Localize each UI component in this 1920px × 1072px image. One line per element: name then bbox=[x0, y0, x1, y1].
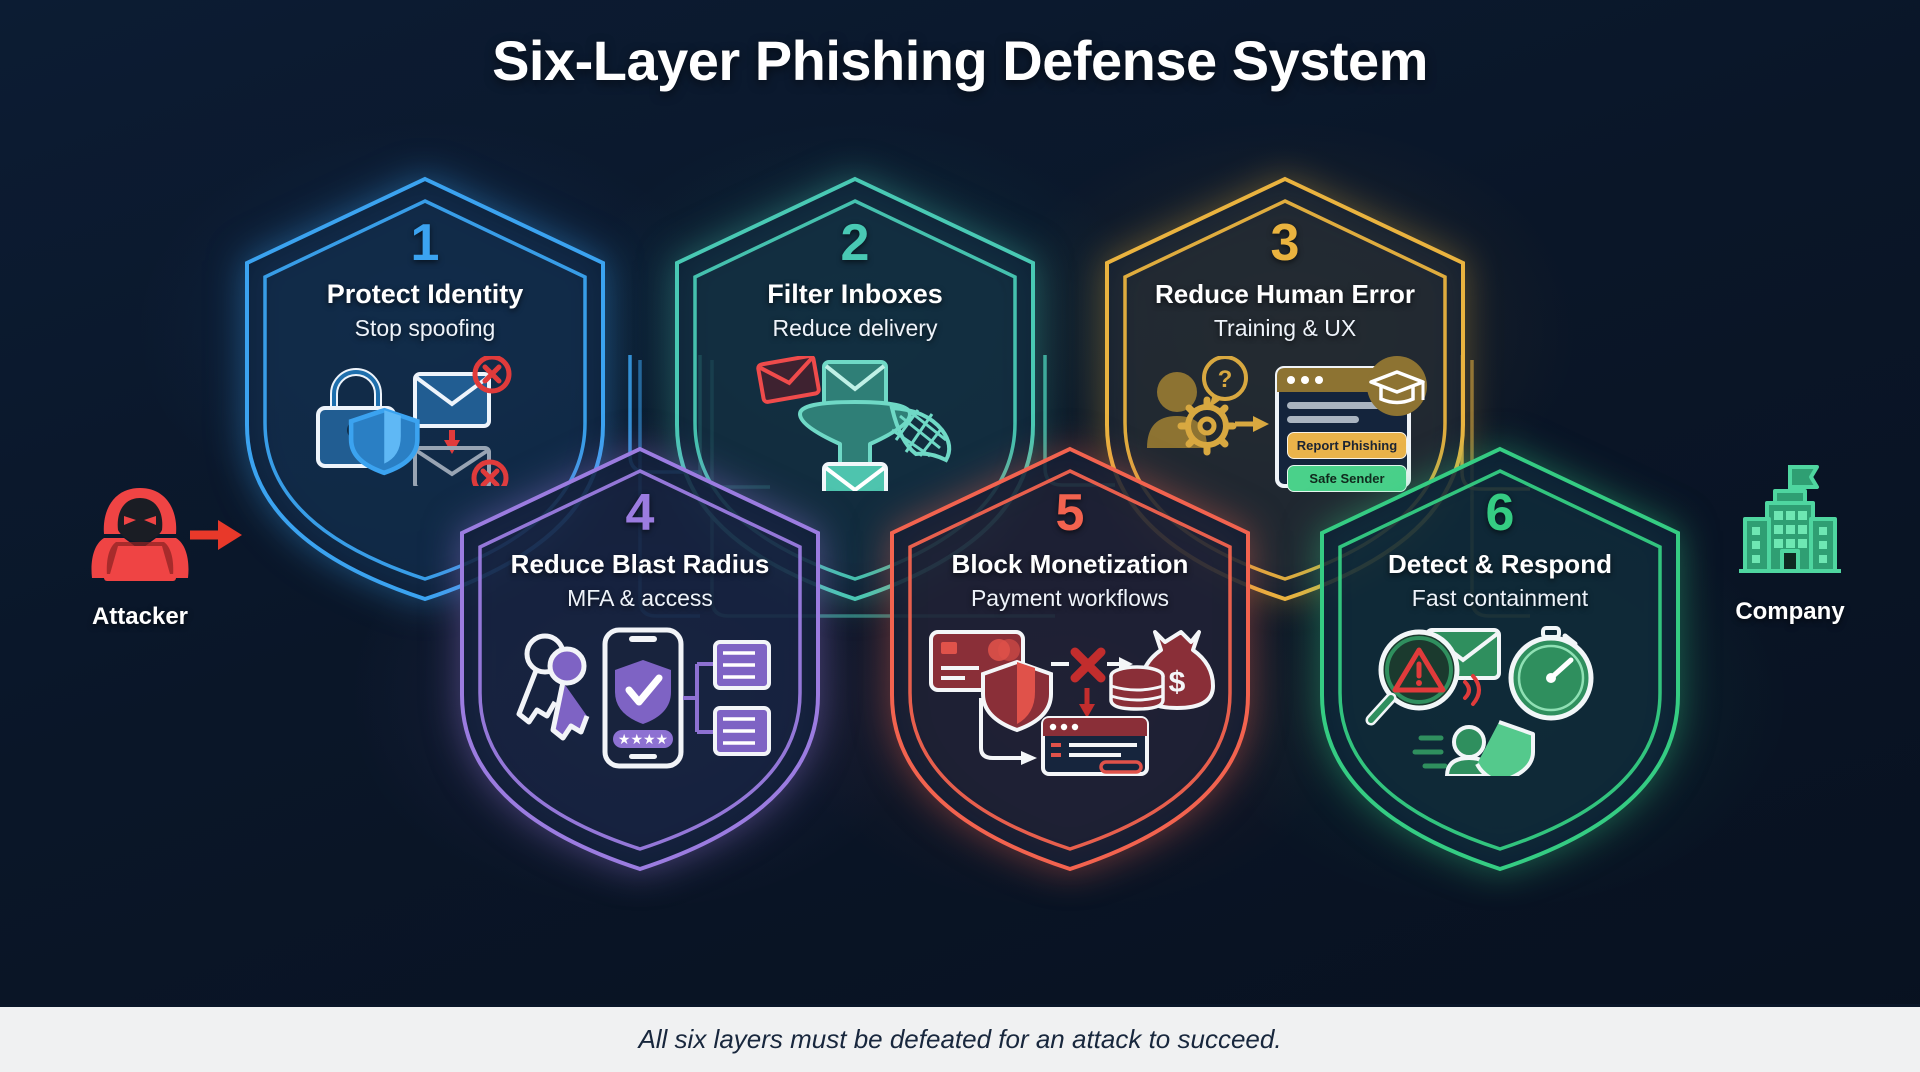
layer-number-4: 4 bbox=[626, 487, 655, 539]
alert-waves-icon bbox=[1465, 676, 1479, 704]
envelope-blocked-icon bbox=[415, 357, 509, 426]
shield-icon bbox=[983, 662, 1051, 730]
layer-number-5: 5 bbox=[1056, 487, 1085, 539]
envelope-clean-icon bbox=[824, 464, 886, 491]
layer-title-5: Block Monetization bbox=[952, 549, 1189, 580]
envelope-red-icon bbox=[758, 356, 820, 403]
layer-title-1: Protect Identity bbox=[327, 279, 524, 310]
shield-icon bbox=[351, 410, 417, 473]
layer-card-5[interactable]: 5 Block Monetization Payment workflows bbox=[880, 445, 1260, 875]
svg-text:★★★★: ★★★★ bbox=[618, 731, 668, 747]
layer-subtitle-6: Fast containment bbox=[1412, 585, 1588, 612]
footer-note: All six layers must be defeated for an a… bbox=[638, 1024, 1281, 1055]
layer-number-2: 2 bbox=[841, 217, 870, 269]
server-rack-icon bbox=[715, 642, 769, 754]
coins-icon bbox=[1111, 667, 1163, 709]
layer-card-6[interactable]: 6 Detect & Respond Fast containment bbox=[1310, 445, 1690, 875]
graduation-cap-icon bbox=[1367, 356, 1427, 416]
layer-subtitle-3: Training & UX bbox=[1214, 315, 1356, 342]
person-shield-icon bbox=[1415, 722, 1533, 776]
envelope-teal-icon bbox=[824, 362, 886, 406]
layer-4-icon-group: ★★★★ bbox=[505, 626, 775, 771]
company-label: Company bbox=[1680, 598, 1900, 626]
layer-subtitle-4: MFA & access bbox=[567, 585, 713, 612]
endpoint-company: Company bbox=[1680, 455, 1900, 626]
password-dots-icon: ★★★★ bbox=[613, 730, 673, 748]
stopwatch-icon bbox=[1511, 628, 1591, 718]
footer-bar: All six layers must be defeated for an a… bbox=[0, 1004, 1920, 1072]
layer-number-6: 6 bbox=[1486, 487, 1515, 539]
layer-number-1: 1 bbox=[411, 217, 440, 269]
layer-number-3: 3 bbox=[1271, 217, 1300, 269]
arrow-right-icon bbox=[1235, 416, 1269, 432]
svg-text:?: ? bbox=[1218, 366, 1233, 393]
layer-title-3: Reduce Human Error bbox=[1155, 279, 1415, 310]
layer-6-icon-group bbox=[1365, 626, 1635, 776]
hacker-icon bbox=[80, 480, 200, 590]
svg-text:$: $ bbox=[1169, 666, 1186, 699]
endpoint-attacker: Attacker bbox=[30, 480, 250, 631]
layer-title-4: Reduce Blast Radius bbox=[511, 549, 770, 580]
layer-title-6: Detect & Respond bbox=[1388, 549, 1612, 580]
keys-icon bbox=[519, 636, 587, 738]
attacker-label: Attacker bbox=[30, 603, 250, 631]
layer-5-icon-group: $ bbox=[925, 626, 1215, 776]
layer-title-2: Filter Inboxes bbox=[767, 279, 943, 310]
layer-subtitle-5: Payment workflows bbox=[971, 585, 1169, 612]
office-building-icon bbox=[1725, 455, 1855, 585]
layer-card-4[interactable]: 4 Reduce Blast Radius MFA & access bbox=[450, 445, 830, 875]
phone-icon: ★★★★ bbox=[605, 630, 681, 766]
layer-subtitle-2: Reduce delivery bbox=[773, 315, 938, 342]
layer-subtitle-1: Stop spoofing bbox=[355, 315, 496, 342]
infographic-canvas: Six-Layer Phishing Defense System bbox=[0, 0, 1920, 1072]
magnifier-icon bbox=[1371, 632, 1457, 720]
down-arrow-icon bbox=[1079, 688, 1095, 718]
